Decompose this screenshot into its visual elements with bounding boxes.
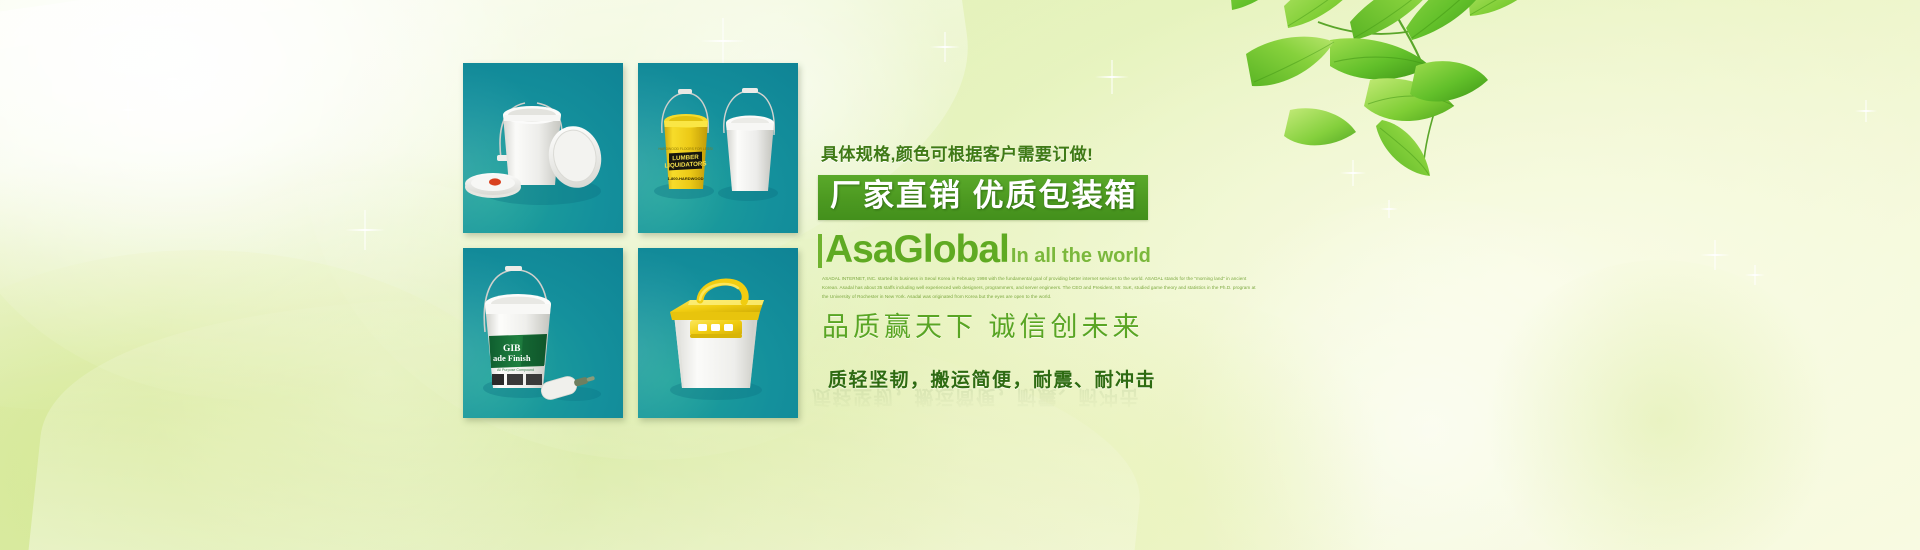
company-fineprint: ASADAL INTERNET, INC. started its busine… bbox=[822, 275, 1260, 302]
logo-bar-icon bbox=[818, 234, 822, 268]
features-wrap: 质轻坚韧，搬运简便，耐震、耐冲击 质轻坚韧，搬运简便，耐震、耐冲击 bbox=[828, 365, 1288, 392]
leaf-branch-icon bbox=[1230, 0, 1650, 200]
sparkle-icon bbox=[930, 32, 960, 62]
sparkle-icon bbox=[160, 66, 186, 92]
brand-slogan: 品质赢天下 诚信创未来 bbox=[822, 311, 1288, 343]
svg-text:All Purpose Compound: All Purpose Compound bbox=[497, 368, 534, 372]
product-image-rectangular-tote-box[interactable] bbox=[638, 248, 798, 418]
sparkle-icon bbox=[1095, 60, 1129, 94]
brand-logo[interactable]: AsaGlobal In all the world bbox=[818, 230, 1288, 269]
svg-text:1-800-HARDWOOD: 1-800-HARDWOOD bbox=[667, 176, 703, 181]
bokeh-circle bbox=[1480, 260, 1840, 550]
sparkle-icon bbox=[1855, 100, 1877, 122]
product-image-lumber-liquidators-pair[interactable]: LUMBER LIQUIDATORS 1-800-HARDWOOD HARDWO… bbox=[638, 63, 798, 233]
headline: 厂家直销 优质包装箱 bbox=[830, 180, 1138, 213]
yellow-and-white-buckets-illustration: LUMBER LIQUIDATORS 1-800-HARDWOOD HARDWO… bbox=[638, 63, 798, 233]
white-bucket-illustration bbox=[463, 63, 623, 233]
sparkle-icon bbox=[118, 100, 138, 120]
sparkle-icon bbox=[1745, 265, 1765, 285]
logo-wordmark: AsaGlobal bbox=[825, 230, 1009, 269]
logo-tagline: In all the world bbox=[1011, 246, 1151, 266]
product-image-grid: LUMBER LIQUIDATORS 1-800-HARDWOOD HARDWO… bbox=[463, 63, 798, 413]
gib-pail-illustration: GIB ade Finish All Purpose Compound bbox=[463, 248, 623, 418]
headline-band: 厂家直销 优质包装箱 bbox=[818, 175, 1148, 220]
sparkle-icon bbox=[1380, 200, 1398, 218]
subheadline: 具体规格,颜色可根据客户需要订做! bbox=[821, 145, 1288, 165]
tote-box-illustration bbox=[638, 248, 798, 418]
product-image-gib-trade-finish-pail[interactable]: GIB ade Finish All Purpose Compound bbox=[463, 248, 623, 418]
product-image-white-bucket-with-lids[interactable] bbox=[463, 63, 623, 233]
promo-banner: LUMBER LIQUIDATORS 1-800-HARDWOOD HARDWO… bbox=[0, 0, 1920, 550]
sparkle-icon bbox=[1700, 240, 1730, 270]
sparkle-icon bbox=[700, 18, 746, 64]
feature-list-reflection: 质轻坚韧，搬运简便，耐震、耐冲击 bbox=[812, 385, 1140, 412]
sparkle-icon bbox=[345, 210, 385, 250]
copy-panel: 具体规格,颜色可根据客户需要订做! 厂家直销 优质包装箱 AsaGlobal I… bbox=[818, 145, 1288, 392]
sparkle-icon bbox=[1340, 160, 1366, 186]
svg-text:ade Finish: ade Finish bbox=[493, 353, 531, 363]
svg-text:HARDWOOD FLOORS FOR LESS!: HARDWOOD FLOORS FOR LESS! bbox=[658, 147, 712, 151]
